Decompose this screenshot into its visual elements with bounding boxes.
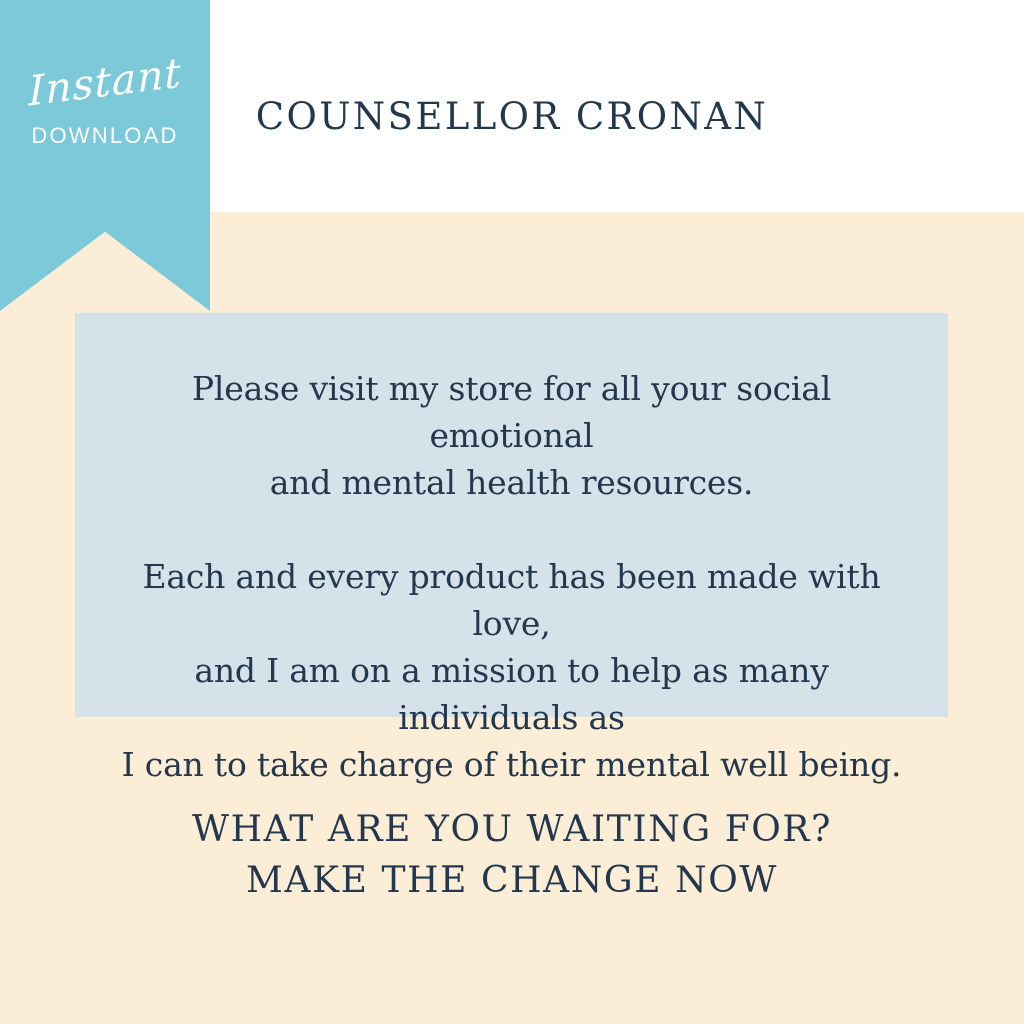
ribbon-script-label: Instant — [0, 49, 209, 116]
promo-card: Instant DOWNLOAD COUNSELLOR CRONAN Pleas… — [0, 0, 1024, 1024]
call-to-action-text: WHAT ARE YOU WAITING FOR? MAKE THE CHANG… — [0, 804, 1024, 906]
message-panel: Please visit my store for all your socia… — [75, 313, 948, 717]
ribbon-download-label: DOWNLOAD — [0, 125, 210, 147]
message-paragraph-1: Please visit my store for all your socia… — [109, 365, 914, 506]
message-paragraph-2: Each and every product has been made wit… — [109, 553, 914, 788]
ribbon-content: Instant DOWNLOAD — [0, 62, 210, 147]
